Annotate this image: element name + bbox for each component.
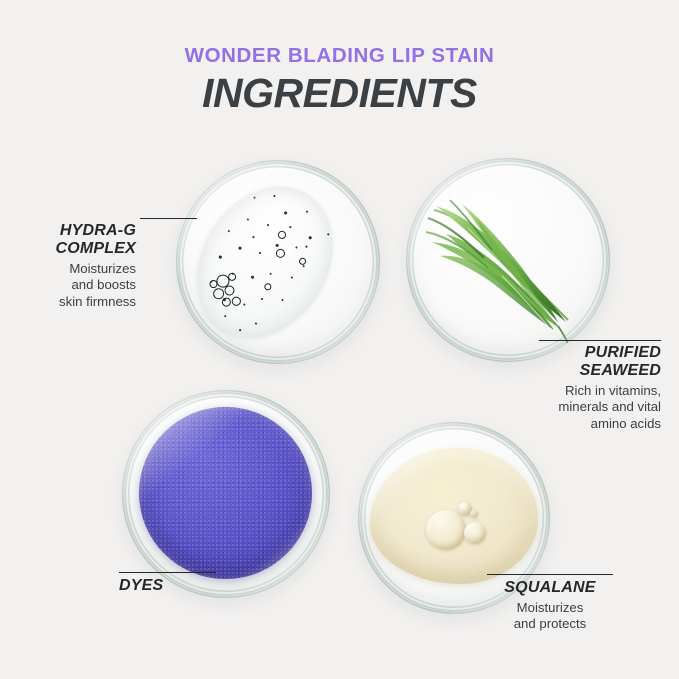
gel-blob-sample (176, 161, 360, 362)
callout-dyes: DYES (119, 577, 279, 598)
petri-dish-dyes (122, 390, 330, 598)
ingredient-title-seaweed: PURIFIED SEAWEED (460, 344, 661, 380)
powder-edge-shade (139, 407, 312, 579)
ingredient-desc-squalane: Moisturizes and protects (487, 600, 613, 633)
leader-line-hydra-g (140, 218, 197, 219)
oil-droplet-large (426, 510, 466, 550)
leader-line-squalane (487, 574, 613, 575)
ingredient-desc-seaweed: Rich in vitamins, minerals and vital ami… (460, 383, 661, 432)
callout-hydra-g-complex: HYDRA-G COMPLEX Moisturizes and boosts s… (0, 222, 136, 310)
squalane-oil-sample (370, 448, 538, 584)
petri-dish-purified-seaweed (406, 158, 610, 362)
page-title: INGREDIENTS (0, 70, 679, 117)
callout-purified-seaweed: PURIFIED SEAWEED Rich in vitamins, miner… (460, 344, 661, 432)
oil-droplet-tiny (470, 510, 478, 518)
ingredients-infographic: WONDER BLADING LIP STAIN INGREDIENTS (0, 0, 679, 679)
callout-squalane: SQUALANE Moisturizes and protects (487, 579, 613, 633)
petri-dish-hydra-g-complex (176, 160, 380, 364)
product-brand-line: WONDER BLADING LIP STAIN (0, 44, 679, 68)
ingredient-title-dyes: DYES (119, 577, 279, 595)
leader-line-dyes (119, 572, 216, 573)
oil-droplet-medium (464, 522, 486, 544)
ingredient-title-hydra-g: HYDRA-G COMPLEX (0, 222, 136, 258)
blue-powder-sample (139, 407, 312, 579)
ingredient-title-squalane: SQUALANE (487, 579, 613, 597)
seaweed-sample (406, 158, 610, 362)
leader-line-seaweed (539, 340, 661, 341)
ingredient-desc-hydra-g: Moisturizes and boosts skin firmness (0, 261, 136, 310)
